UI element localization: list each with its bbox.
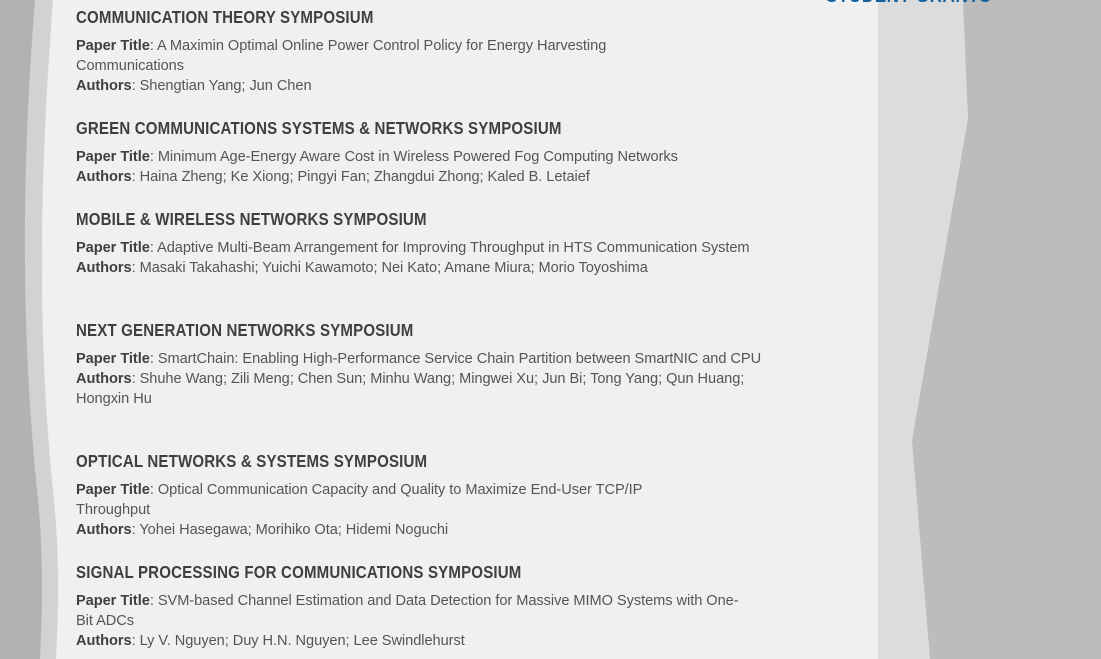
authors-separator: :: [132, 260, 140, 276]
symposium-entry: MOBILE & WIRELESS NETWORKS SYMPOSIUM Pap…: [76, 210, 754, 278]
paper-title-separator: :: [150, 149, 158, 165]
authors-separator: :: [132, 78, 140, 94]
paper-title-value: SVM-based Channel Estimation and Data De…: [76, 593, 739, 629]
paper-title-line: Paper Title: SmartChain: Enabling High-P…: [76, 349, 762, 369]
authors-label: Authors: [76, 260, 132, 276]
authors-line: Authors: Shengtian Yang; Jun Chen: [76, 76, 656, 96]
paper-title-separator: :: [150, 351, 158, 367]
paper-title-label: Paper Title: [76, 149, 150, 165]
paper-title-value: Adaptive Multi-Beam Arrangement for Impr…: [157, 240, 750, 256]
symposium-heading: OPTICAL NETWORKS & SYSTEMS SYMPOSIUM: [76, 452, 609, 471]
authors-value: Yohei Hasegawa; Morihiko Ota; Hidemi Nog…: [139, 522, 448, 538]
paper-title-label: Paper Title: [76, 38, 150, 54]
paper-title-value: SmartChain: Enabling High-Performance Se…: [158, 351, 761, 367]
paper-title-value: Minimum Age-Energy Aware Cost in Wireles…: [158, 149, 678, 165]
symposium-heading: NEXT GENERATION NETWORKS SYMPOSIUM: [76, 321, 666, 340]
symposium-heading: SIGNAL PROCESSING FOR COMMUNICATIONS SYM…: [76, 563, 649, 582]
authors-value: Ly V. Nguyen; Duy H.N. Nguyen; Lee Swind…: [140, 633, 465, 649]
authors-line: Authors: Shuhe Wang; Zili Meng; Chen Sun…: [76, 369, 762, 409]
authors-label: Authors: [76, 633, 132, 649]
authors-line: Authors: Haina Zheng; Ke Xiong; Pingyi F…: [76, 167, 776, 187]
authors-value: Masaki Takahashi; Yuichi Kawamoto; Nei K…: [140, 260, 648, 276]
authors-line: Authors: Yohei Hasegawa; Morihiko Ota; H…: [76, 520, 696, 540]
authors-value: Haina Zheng; Ke Xiong; Pingyi Fan; Zhang…: [140, 169, 590, 185]
paper-title-line: Paper Title: Adaptive Multi-Beam Arrange…: [76, 238, 754, 258]
symposium-entry: SIGNAL PROCESSING FOR COMMUNICATIONS SYM…: [76, 563, 742, 652]
paper-title-separator: :: [150, 38, 157, 54]
authors-label: Authors: [76, 522, 132, 538]
authors-separator: :: [132, 633, 140, 649]
authors-line: Authors: Ly V. Nguyen; Duy H.N. Nguyen; …: [76, 631, 742, 651]
symposium-heading: MOBILE & WIRELESS NETWORKS SYMPOSIUM: [76, 210, 659, 229]
paper-title-label: Paper Title: [76, 351, 150, 367]
paper-title-value: Optical Communication Capacity and Quali…: [76, 482, 642, 518]
authors-label: Authors: [76, 78, 132, 94]
page-root: STUDENT GRANTS COMMUNICATION THEORY SYMP…: [0, 0, 1101, 659]
paper-title-label: Paper Title: [76, 240, 150, 256]
symposium-heading: COMMUNICATION THEORY SYMPOSIUM: [76, 8, 575, 27]
authors-label: Authors: [76, 169, 132, 185]
paper-title-line: Paper Title: Minimum Age-Energy Aware Co…: [76, 147, 776, 167]
authors-separator: :: [132, 371, 140, 387]
authors-label: Authors: [76, 371, 132, 387]
authors-separator: :: [132, 169, 140, 185]
symposium-entry: COMMUNICATION THEORY SYMPOSIUM Paper Tit…: [76, 8, 656, 97]
symposium-entry: OPTICAL NETWORKS & SYSTEMS SYMPOSIUM Pap…: [76, 452, 696, 541]
paper-title-separator: :: [150, 482, 158, 498]
paper-title-line: Paper Title: A Maximin Optimal Online Po…: [76, 36, 656, 76]
authors-line: Authors: Masaki Takahashi; Yuichi Kawamo…: [76, 258, 754, 278]
paper-title-line: Paper Title: Optical Communication Capac…: [76, 480, 696, 520]
paper-title-separator: :: [150, 240, 157, 256]
symposium-entry: GREEN COMMUNICATIONS SYSTEMS & NETWORKS …: [76, 119, 776, 187]
paper-title-line: Paper Title: SVM-based Channel Estimatio…: [76, 591, 742, 631]
symposium-heading: GREEN COMMUNICATIONS SYSTEMS & NETWORKS …: [76, 119, 678, 138]
paper-title-label: Paper Title: [76, 482, 150, 498]
paper-title-label: Paper Title: [76, 593, 150, 609]
symposium-list: COMMUNICATION THEORY SYMPOSIUM Paper Tit…: [0, 0, 1101, 659]
paper-title-separator: :: [150, 593, 158, 609]
authors-value: Shengtian Yang; Jun Chen: [140, 78, 312, 94]
authors-value: Shuhe Wang; Zili Meng; Chen Sun; Minhu W…: [76, 371, 744, 407]
symposium-entry: NEXT GENERATION NETWORKS SYMPOSIUM Paper…: [76, 321, 762, 410]
